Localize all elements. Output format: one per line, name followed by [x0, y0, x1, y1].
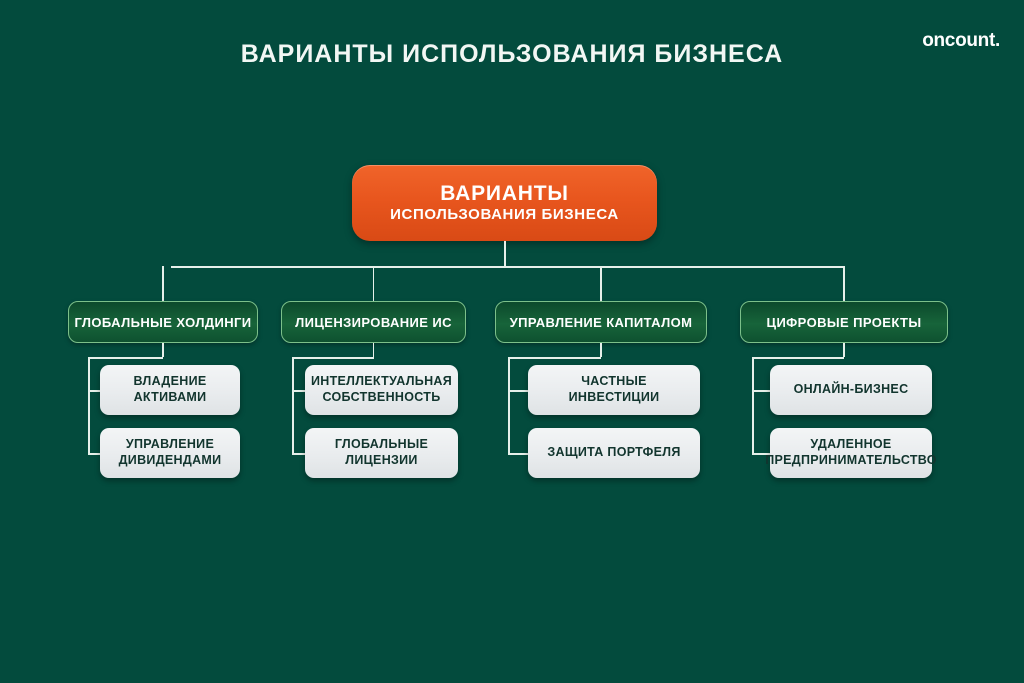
leaf-spine	[292, 357, 294, 453]
leaf-spine	[88, 357, 90, 453]
leaf-stub	[292, 390, 305, 392]
leaf-card-label: ЧАСТНЫЕ ИНВЕСТИЦИИ	[536, 374, 692, 405]
branch-elbow-across	[292, 357, 374, 359]
leaf-card-4-1[interactable]: ОНЛАЙН-БИЗНЕС	[770, 365, 932, 415]
leaf-stub	[292, 453, 305, 455]
leaf-spine	[752, 357, 754, 453]
branch-node-label: ЦИФРОВЫЕ ПРОЕКТЫ	[767, 315, 922, 330]
root-stem	[504, 241, 506, 266]
leaf-card-label: ОНЛАЙН-БИЗНЕС	[794, 382, 909, 398]
branch-drop	[843, 266, 845, 301]
slide-canvas: ВАРИАНТЫ ИСПОЛЬЗОВАНИЯ БИЗНЕСА oncount. …	[0, 0, 1024, 683]
branch-node-1[interactable]: ГЛОБАЛЬНЫЕ ХОЛДИНГИ	[68, 301, 258, 343]
branch-drop	[162, 266, 164, 301]
leaf-card-4-2[interactable]: УДАЛЕННОЕ ПРЕДПРИНИМАТЕЛЬСТВО	[770, 428, 932, 478]
branch-node-label: ГЛОБАЛЬНЫЕ ХОЛДИНГИ	[74, 315, 251, 330]
branch-node-label: ЛИЦЕНЗИРОВАНИЕ ИС	[295, 315, 452, 330]
branch-elbow-drop	[843, 343, 845, 357]
leaf-card-3-2[interactable]: ЗАЩИТА ПОРТФЕЛЯ	[528, 428, 700, 478]
leaf-card-label: ГЛОБАЛЬНЫЕ ЛИЦЕНЗИИ	[335, 437, 428, 468]
branch-drop	[373, 266, 375, 301]
leaf-spine	[508, 357, 510, 453]
branch-elbow-drop	[162, 343, 164, 357]
leaf-card-label: УПРАВЛЕНИЕ ДИВИДЕНДАМИ	[119, 437, 222, 468]
leaf-card-label: ИНТЕЛЛЕКТУАЛЬНАЯ СОБСТВЕННОСТЬ	[311, 374, 452, 405]
branch-drop	[600, 266, 602, 301]
leaf-card-label: ВЛАДЕНИЕ АКТИВАМИ	[134, 374, 207, 405]
root-node-title: ВАРИАНТЫ	[440, 183, 569, 205]
leaf-stub	[508, 453, 528, 455]
branch-node-label: УПРАВЛЕНИЕ КАПИТАЛОМ	[510, 315, 693, 330]
leaf-stub	[508, 390, 528, 392]
leaf-card-label: ЗАЩИТА ПОРТФЕЛЯ	[547, 445, 680, 461]
leaf-card-2-2[interactable]: ГЛОБАЛЬНЫЕ ЛИЦЕНЗИИ	[305, 428, 458, 478]
leaf-card-1-1[interactable]: ВЛАДЕНИЕ АКТИВАМИ	[100, 365, 240, 415]
leaf-card-3-1[interactable]: ЧАСТНЫЕ ИНВЕСТИЦИИ	[528, 365, 700, 415]
branch-node-2[interactable]: ЛИЦЕНЗИРОВАНИЕ ИС	[281, 301, 466, 343]
branch-elbow-drop	[373, 343, 375, 357]
leaf-stub	[88, 390, 100, 392]
branch-elbow-across	[88, 357, 163, 359]
branch-node-3[interactable]: УПРАВЛЕНИЕ КАПИТАЛОМ	[495, 301, 707, 343]
branch-node-4[interactable]: ЦИФРОВЫЕ ПРОЕКТЫ	[740, 301, 948, 343]
leaf-stub	[88, 453, 100, 455]
brand-logo: oncount.	[922, 30, 1000, 52]
branch-elbow-across	[752, 357, 844, 359]
root-node[interactable]: ВАРИАНТЫ ИСПОЛЬЗОВАНИЯ БИЗНЕСА	[352, 165, 657, 241]
leaf-card-2-1[interactable]: ИНТЕЛЛЕКТУАЛЬНАЯ СОБСТВЕННОСТЬ	[305, 365, 458, 415]
leaf-stub	[752, 390, 770, 392]
branch-elbow-drop	[600, 343, 602, 357]
root-node-subtitle: ИСПОЛЬЗОВАНИЯ БИЗНЕСА	[390, 207, 619, 223]
leaf-card-label: УДАЛЕННОЕ ПРЕДПРИНИМАТЕЛЬСТВО	[765, 437, 937, 468]
page-title: ВАРИАНТЫ ИСПОЛЬЗОВАНИЯ БИЗНЕСА	[0, 40, 1024, 69]
branch-bus	[171, 266, 845, 268]
branch-elbow-across	[508, 357, 601, 359]
leaf-card-1-2[interactable]: УПРАВЛЕНИЕ ДИВИДЕНДАМИ	[100, 428, 240, 478]
